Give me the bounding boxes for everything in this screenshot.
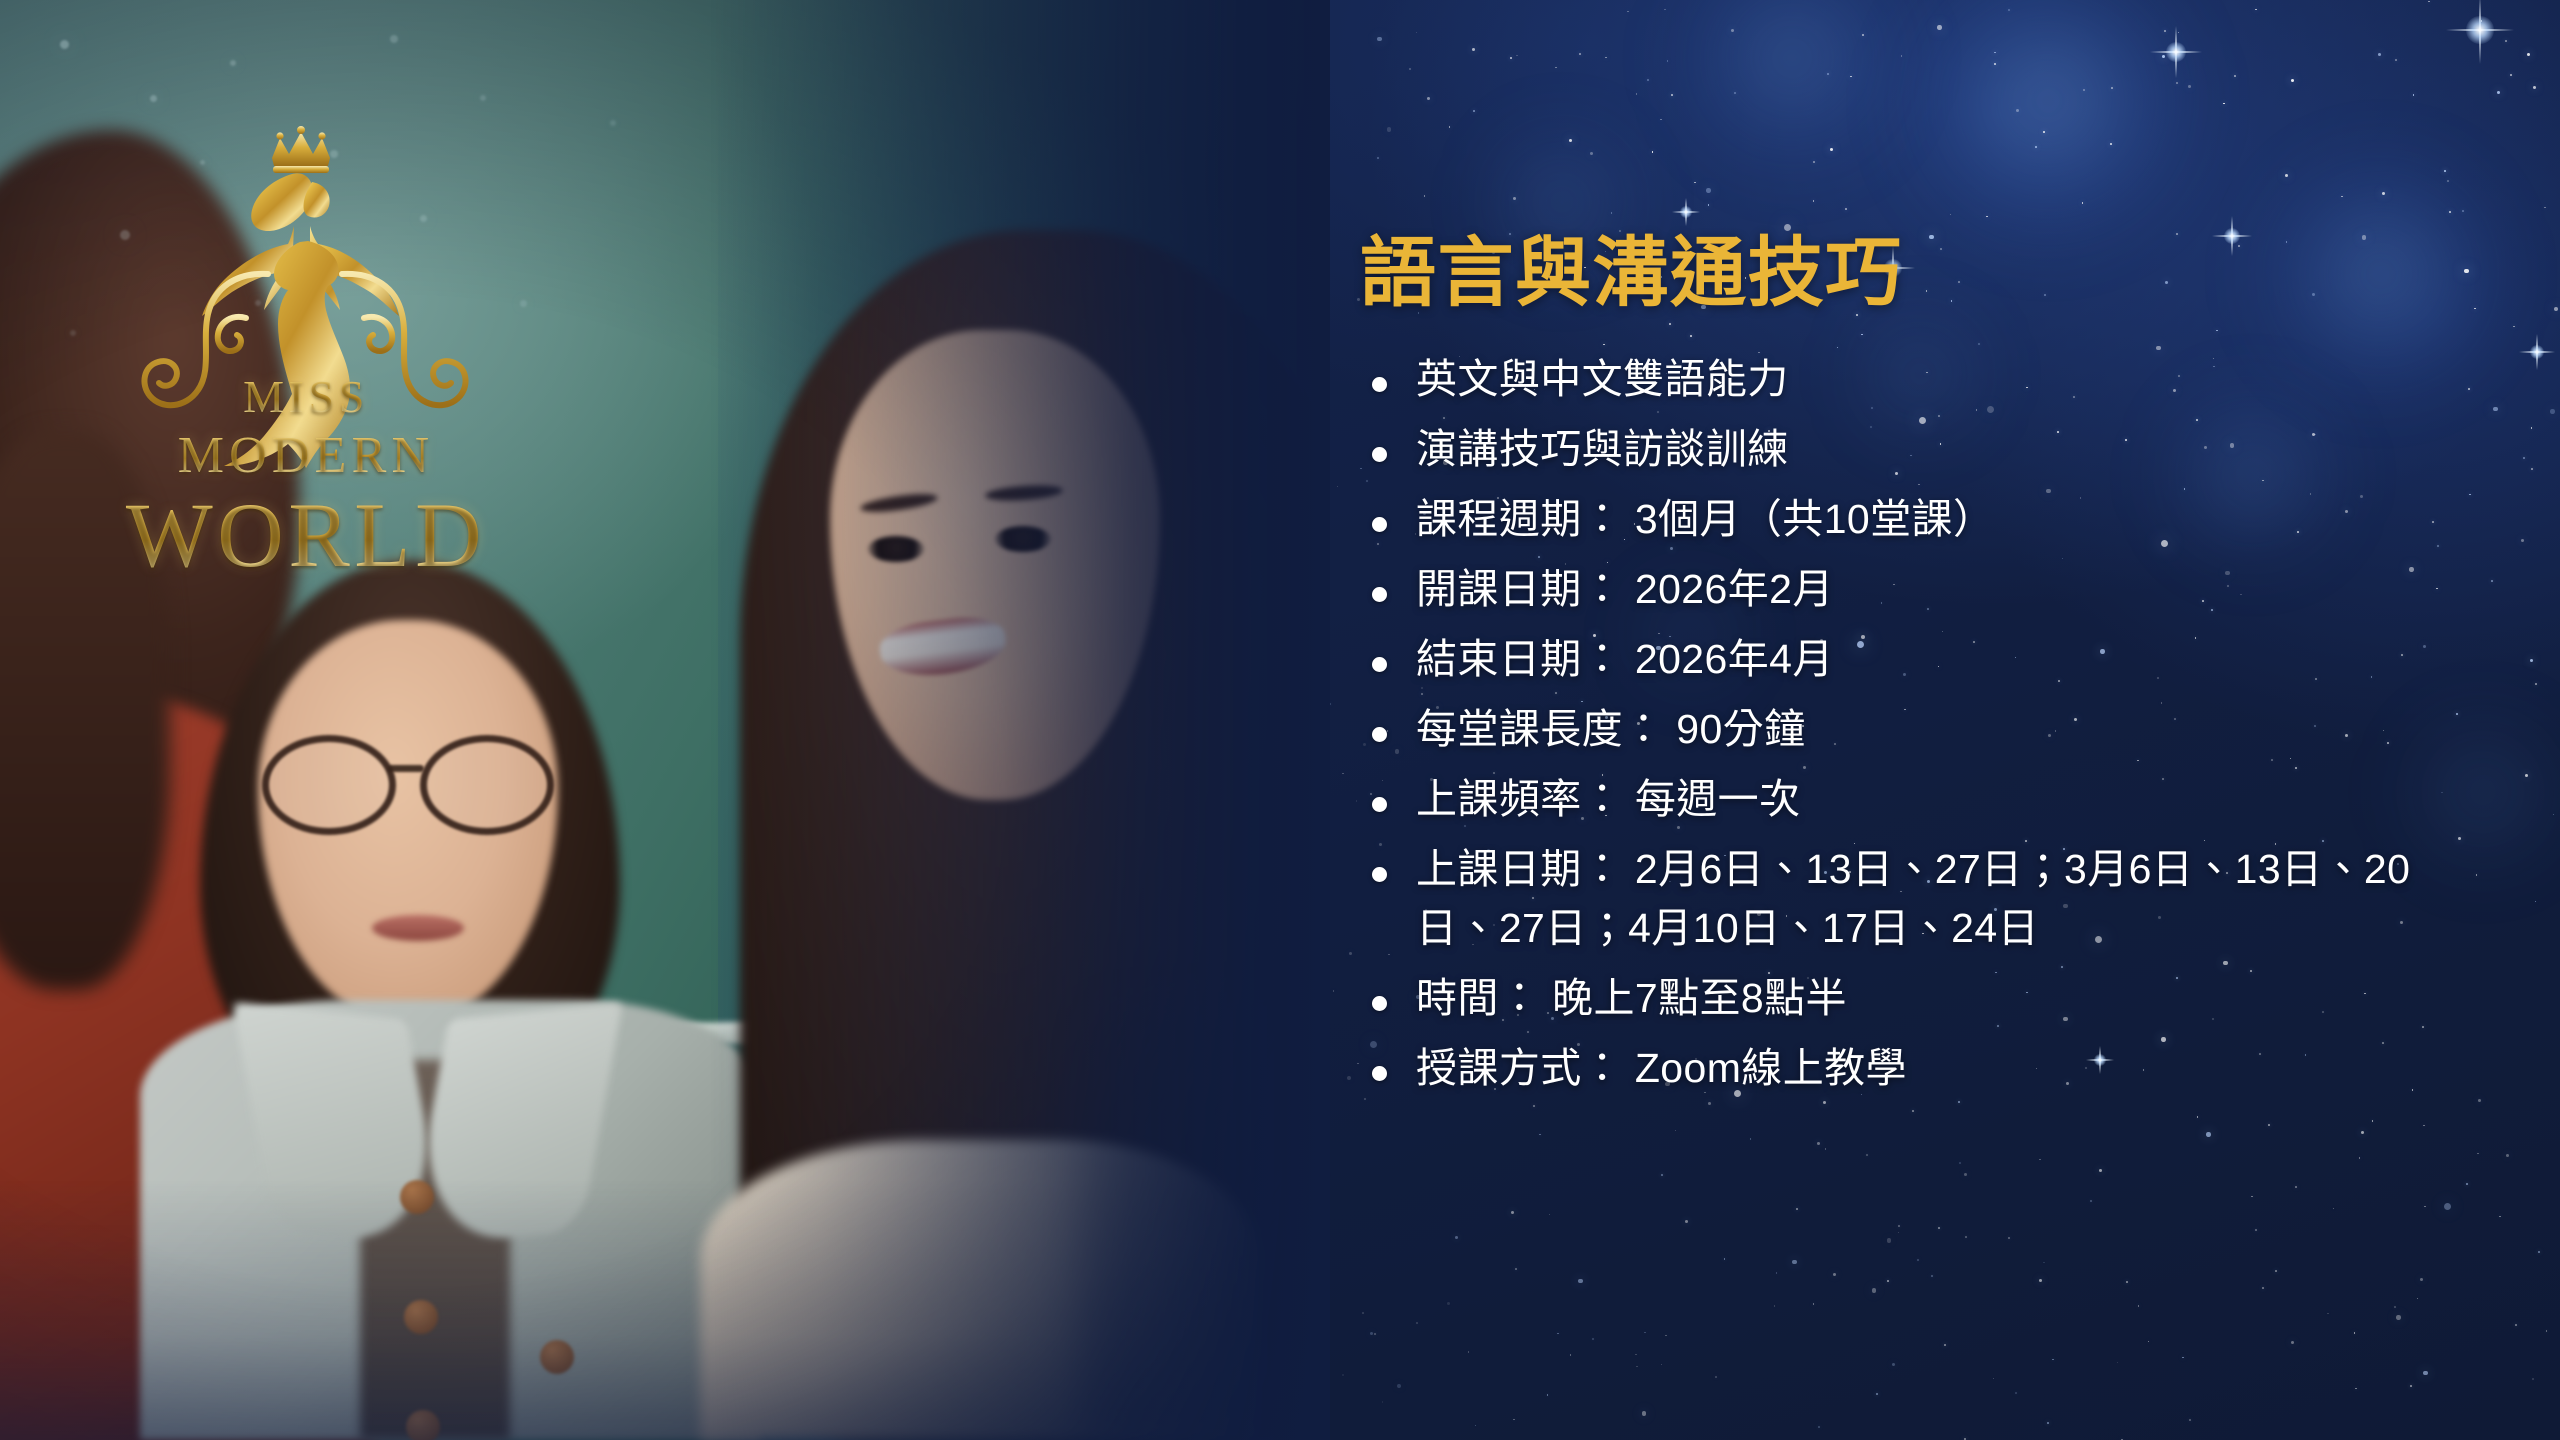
star: [2052, 1359, 2054, 1361]
star: [1547, 1394, 1549, 1396]
star: [1513, 197, 1516, 200]
star: [1734, 92, 1736, 94]
star: [2510, 74, 2512, 76]
slide-root: MISS MODERN WORLD 語言與溝通技巧 英文與中文雙語能力演講技巧與…: [0, 0, 2560, 1440]
star: [1449, 126, 1451, 128]
star: [1994, 52, 1996, 54]
star: [1427, 97, 1430, 100]
star: [1357, 1063, 1359, 1065]
nebula-glow: [1672, 0, 1912, 178]
star: [2497, 91, 2500, 94]
course-detail-item: 課程週期： 3個月（共10堂課）: [1360, 490, 2520, 549]
course-detail-item: 時間： 晚上7點至8點半: [1360, 969, 2520, 1028]
star: [1416, 1322, 1418, 1324]
star: [1409, 68, 1411, 70]
star: [1362, 1312, 1364, 1314]
star: [1792, 1260, 1797, 1265]
star: [2291, 1341, 2294, 1344]
classroom-photo: [0, 0, 1330, 1440]
star: [2223, 103, 2225, 105]
star: [1866, 1154, 1868, 1156]
star: [2428, 1, 2430, 3]
star: [1511, 1211, 1514, 1214]
star: [1416, 32, 1418, 34]
star: [1397, 1384, 1402, 1389]
star: [1986, 216, 1988, 218]
star: [1337, 486, 1339, 488]
course-detail-item: 演講技巧與訪談訓練: [1360, 420, 2520, 479]
star: [1387, 127, 1392, 132]
star: [2515, 1324, 2517, 1326]
star: [1964, 1438, 1966, 1440]
star: [1475, 1425, 1477, 1427]
star: [1964, 1173, 1967, 1176]
star: [1667, 60, 1669, 62]
star: [2544, 207, 2546, 209]
star: [1549, 1214, 1551, 1216]
star: [1661, 1174, 1663, 1176]
star: [1872, 1288, 1877, 1293]
star: [2530, 659, 2533, 662]
star: [1901, 55, 1903, 57]
star: [1830, 148, 1833, 151]
star: [1635, 1354, 1637, 1356]
star: [1731, 29, 1734, 32]
star: [1887, 1238, 1892, 1243]
star: [2354, 1332, 2356, 1334]
star: [1468, 1351, 1470, 1353]
star: [2295, 1186, 2297, 1188]
course-detail-item: 上課頻率： 每週一次: [1360, 770, 2520, 829]
star: [1660, 119, 1662, 121]
star: [1377, 157, 1379, 159]
star: [2008, 1237, 2010, 1239]
star: [2083, 89, 2085, 91]
star: [1774, 1305, 1776, 1307]
star: [1813, 200, 1815, 202]
star: [1827, 73, 1829, 75]
star: [1950, 214, 1952, 216]
star: [2506, 1154, 2509, 1157]
star: [1850, 76, 1852, 78]
sparkle-star: [1672, 198, 1700, 226]
star: [1516, 55, 1518, 57]
course-detail-item: 開課日期： 2026年2月: [1360, 560, 2520, 619]
star: [1813, 161, 1815, 163]
star: [2008, 9, 2010, 11]
star: [2553, 814, 2555, 816]
star: [2550, 409, 2555, 414]
star: [1636, 93, 1638, 95]
star: [1937, 25, 1942, 30]
star: [2359, 1157, 2361, 1159]
star: [1694, 182, 1696, 184]
star: [2444, 1203, 2451, 1210]
star: [2262, 1287, 2264, 1289]
star: [2188, 85, 2191, 88]
star: [2197, 1116, 2199, 1118]
star: [1944, 1344, 1946, 1346]
sparkle-star: [2519, 334, 2555, 370]
star: [2291, 79, 2294, 82]
star: [1993, 1378, 1995, 1380]
star: [2015, 1392, 2017, 1394]
star: [1776, 1272, 1778, 1274]
star: [1661, 1364, 1663, 1366]
course-details-list: 英文與中文雙語能力演講技巧與訪談訓練課程週期： 3個月（共10堂課）開課日期： …: [1360, 350, 2520, 1098]
star: [2413, 94, 2415, 96]
star: [2047, 1422, 2049, 1424]
star: [1578, 1279, 1583, 1284]
star: [2126, 1281, 2128, 1283]
star: [1592, 1338, 1594, 1340]
star: [2148, 1341, 2150, 1343]
course-detail-item: 英文與中文雙語能力: [1360, 350, 2520, 409]
star: [2535, 683, 2537, 685]
star: [1555, 67, 1557, 69]
star: [2182, 1357, 2184, 1359]
star: [2521, 539, 2524, 542]
star: [2423, 1125, 2425, 1127]
star: [1611, 212, 1613, 214]
star: [2531, 468, 2533, 470]
star: [2449, 211, 2451, 213]
star: [1347, 1076, 1352, 1081]
star: [1959, 1162, 1961, 1164]
star: [2090, 1200, 2092, 1202]
star: [2531, 427, 2533, 429]
star: [1647, 79, 1649, 81]
star: [1374, 1333, 1376, 1335]
star: [1579, 53, 1581, 55]
star: [2268, 1124, 2270, 1126]
star: [1715, 1376, 1717, 1378]
star: [2255, 1229, 2257, 1231]
star: [1377, 37, 1382, 42]
star: [2462, 210, 2464, 212]
star: [2417, 1298, 2419, 1300]
star: [2234, 75, 2236, 77]
star: [1557, 1333, 1559, 1335]
star: [1833, 1273, 1836, 1276]
star: [1644, 1332, 1646, 1334]
page-title: 語言與溝通技巧: [1360, 236, 2520, 312]
star: [1333, 990, 1335, 992]
star: [2189, 1419, 2191, 1421]
star: [2099, 1169, 2102, 1172]
star: [2394, 1306, 2396, 1308]
star: [2523, 457, 2525, 459]
star: [2410, 1385, 2412, 1387]
star: [2361, 1131, 2364, 1134]
star: [1898, 1225, 1900, 1227]
star: [1796, 1208, 1798, 1210]
star: [2378, 53, 2381, 56]
star: [2043, 1262, 2045, 1264]
star: [1515, 1268, 1517, 1270]
star: [2355, 1388, 2357, 1390]
star: [1570, 1354, 1572, 1356]
star: [2251, 1196, 2253, 1198]
star: [2039, 1279, 2042, 1282]
star: [2327, 1313, 2329, 1315]
course-detail-item: 授課方式： Zoom線上教學: [1360, 1039, 2520, 1098]
star: [2285, 174, 2288, 177]
star: [2538, 1251, 2540, 1253]
star: [2477, 1153, 2479, 1155]
star: [1862, 34, 1864, 36]
course-detail-item: 上課日期： 2月6日、13日、27日；3月6日、13日、20日、27日；4月10…: [1360, 840, 2520, 958]
star: [1724, 1258, 1726, 1260]
sparkle-star: [2446, 0, 2514, 64]
star: [2444, 170, 2446, 172]
star: [1887, 1280, 1889, 1282]
star: [1382, 1401, 1384, 1403]
star: [1349, 952, 1352, 955]
star: [1784, 224, 1791, 231]
star: [2525, 774, 2528, 777]
star: [1675, 1130, 1677, 1132]
star: [2423, 1371, 2428, 1376]
star: [2275, 1270, 2277, 1272]
star: [2039, 1159, 2041, 1161]
star: [1569, 139, 1572, 142]
star: [1818, 1426, 1820, 1428]
star: [2110, 143, 2112, 145]
star: [1642, 1411, 1647, 1416]
star: [1473, 110, 1475, 112]
star: [1590, 152, 1593, 155]
star: [1671, 94, 1673, 96]
star: [2424, 1206, 2426, 1208]
star: [1825, 1148, 1827, 1150]
star: [1510, 57, 1512, 59]
star: [1370, 1332, 1373, 1335]
star: [2176, 233, 2178, 235]
star: [2333, 1208, 2335, 1210]
star: [1813, 1303, 1815, 1305]
star: [2395, 59, 2397, 61]
star: [1750, 1138, 1752, 1140]
star: [2420, 1278, 2423, 1281]
star: [1994, 63, 1996, 65]
star: [2447, 180, 2449, 182]
star: [1424, 195, 1426, 197]
star: [2111, 87, 2113, 89]
photo-to-starfield-fade: [710, 0, 1330, 1440]
star: [1636, 1366, 1638, 1368]
sparkle-star: [2150, 26, 2202, 78]
star: [1931, 1275, 1933, 1277]
star: [1708, 204, 1710, 206]
star: [1685, 1220, 1688, 1223]
star: [2466, 1183, 2468, 1185]
star: [2382, 192, 2385, 195]
star: [2527, 53, 2530, 56]
course-detail-item: 每堂課長度： 90分鐘: [1360, 700, 2520, 759]
star: [2396, 1315, 2401, 1320]
star: [1447, 1302, 1450, 1305]
star: [1965, 1236, 1967, 1238]
star: [1342, 1374, 1344, 1376]
content-panel: 語言與溝通技巧 英文與中文雙語能力演講技巧與訪談訓練課程週期： 3個月（共10堂…: [1360, 236, 2520, 1109]
course-detail-item: 結束日期： 2026年4月: [1360, 630, 2520, 689]
star: [2533, 86, 2536, 89]
star: [1817, 1142, 1820, 1145]
star: [2535, 901, 2537, 903]
star: [1938, 1227, 1940, 1229]
star: [2532, 1378, 2534, 1380]
star: [2554, 307, 2559, 312]
star: [2546, 1330, 2548, 1332]
star: [1917, 1259, 1919, 1261]
star: [2499, 1216, 2501, 1218]
star: [2016, 109, 2019, 112]
star: [1892, 1363, 1895, 1366]
star: [1627, 11, 1629, 13]
star: [1513, 1419, 1515, 1421]
star: [2206, 1132, 2211, 1137]
star: [2117, 1362, 2119, 1364]
star: [2255, 9, 2257, 11]
star: [1652, 151, 1654, 153]
star: [1876, 1393, 1878, 1395]
star: [1356, 800, 1358, 802]
star: [1845, 208, 1847, 210]
star: [1455, 1236, 1458, 1239]
star: [1664, 9, 1666, 11]
star: [2035, 146, 2037, 148]
star: [2176, 82, 2178, 84]
star: [1706, 188, 1711, 193]
star: [1665, 1335, 1667, 1337]
star: [1912, 1110, 1914, 1112]
star: [2341, 196, 2343, 198]
star: [1605, 57, 1607, 59]
star: [2043, 131, 2045, 133]
star: [2138, 1305, 2140, 1307]
star: [2372, 1120, 2374, 1122]
star: [1539, 1134, 1541, 1136]
star: [1342, 773, 1344, 775]
star: [2082, 202, 2084, 204]
star: [1898, 1232, 1900, 1234]
star: [1472, 48, 1475, 51]
